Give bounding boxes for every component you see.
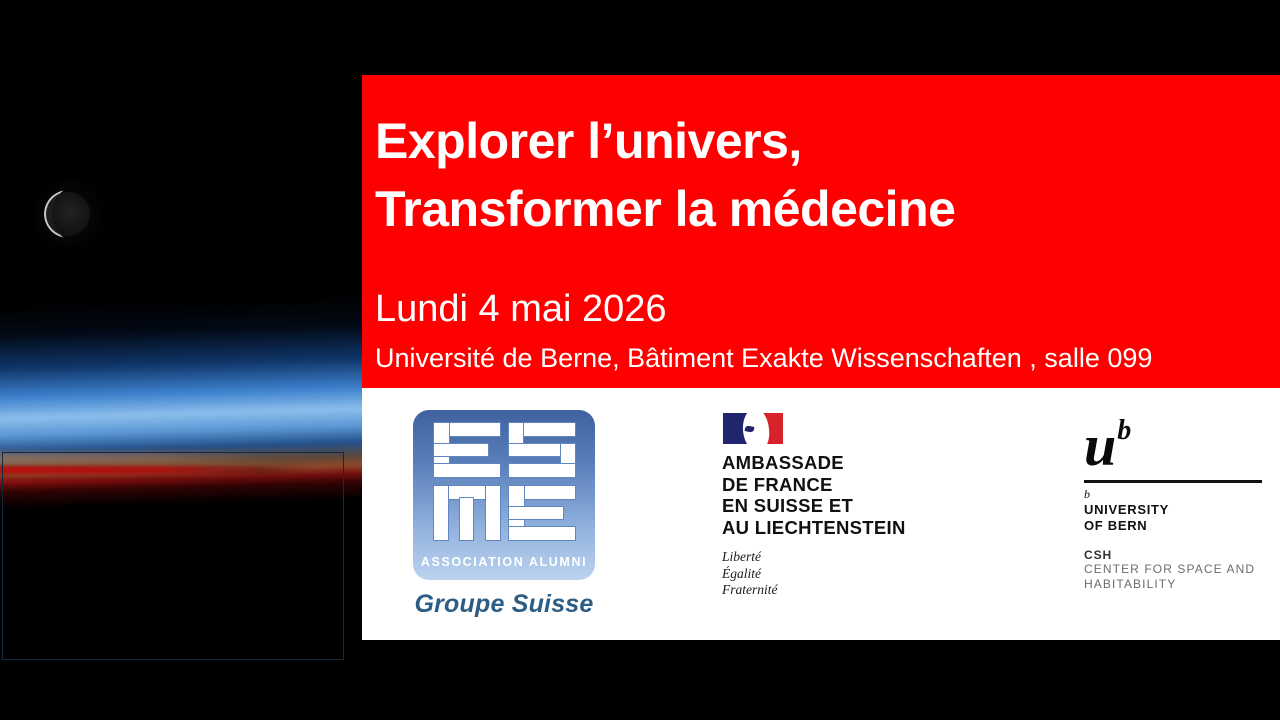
- unibe-divider: [1084, 480, 1262, 483]
- embassy-name-line-3: EN SUISSE ET: [722, 495, 992, 517]
- csh-name-line-2: HABITABILITY: [1084, 577, 1264, 592]
- csh-abbreviation: CSH: [1084, 548, 1264, 562]
- esme-letters-row-top: [427, 422, 581, 478]
- esme-logo: ASSOCIATION ALUMNI Groupe Suisse: [394, 410, 614, 619]
- esme-badge: ASSOCIATION ALUMNI: [413, 410, 595, 580]
- esme-tagline: ASSOCIATION ALUMNI: [413, 555, 595, 569]
- university-of-bern-logo: ub b UNIVERSITY OF BERN CSH CENTER FOR S…: [1084, 400, 1264, 592]
- slide-title-line-2: Transformer la médecine: [375, 175, 1280, 243]
- embassy-name-line-4: AU LIECHTENSTEIN: [722, 517, 992, 539]
- slide-title-line-1: Explorer l’univers,: [375, 107, 1280, 175]
- esme-caption: Groupe Suisse: [394, 590, 614, 619]
- esme-letter-s-top: [508, 422, 576, 478]
- french-embassy-logo: AMBASSADE DE FRANCE EN SUISSE ET AU LIEC…: [722, 412, 992, 599]
- esme-letter-e-top: [433, 422, 501, 478]
- esme-letter-e-bottom: [508, 485, 576, 541]
- unibe-small-b: b: [1084, 488, 1264, 501]
- esme-letters-row-bottom: [427, 485, 581, 541]
- title-banner: Explorer l’univers, Transformer la médec…: [362, 75, 1280, 388]
- unibe-mark-superscript: b: [1117, 415, 1130, 446]
- marianne-flag-icon: [722, 412, 784, 445]
- background-frame-outline: [2, 452, 344, 660]
- motto-liberte: Liberté: [722, 549, 992, 566]
- embassy-motto: Liberté Égalité Fraternité: [722, 549, 992, 599]
- event-venue: Université de Berne, Bâtiment Exakte Wis…: [375, 341, 1280, 375]
- embassy-name-line-1: AMBASSADE: [722, 452, 992, 474]
- motto-fraternite: Fraternité: [722, 582, 992, 599]
- unibe-name-line-1: UNIVERSITY: [1084, 502, 1264, 518]
- presentation-slide: Explorer l’univers, Transformer la médec…: [0, 0, 1280, 720]
- esme-letter-m-bottom: [433, 485, 501, 541]
- unibe-name-line-2: OF BERN: [1084, 518, 1264, 534]
- event-date: Lundi 4 mai 2026: [375, 287, 1280, 331]
- csh-name-line-1: CENTER FOR SPACE AND: [1084, 562, 1264, 577]
- motto-egalite: Égalité: [722, 566, 992, 583]
- moon-dark-disk: [46, 192, 90, 236]
- sponsor-logo-panel: ASSOCIATION ALUMNI Groupe Suisse AMBASSA…: [362, 388, 1280, 640]
- embassy-name-line-2: DE FRANCE: [722, 474, 992, 496]
- unibe-mark-letter: u: [1084, 413, 1115, 478]
- unibe-ub-mark: ub: [1084, 400, 1264, 474]
